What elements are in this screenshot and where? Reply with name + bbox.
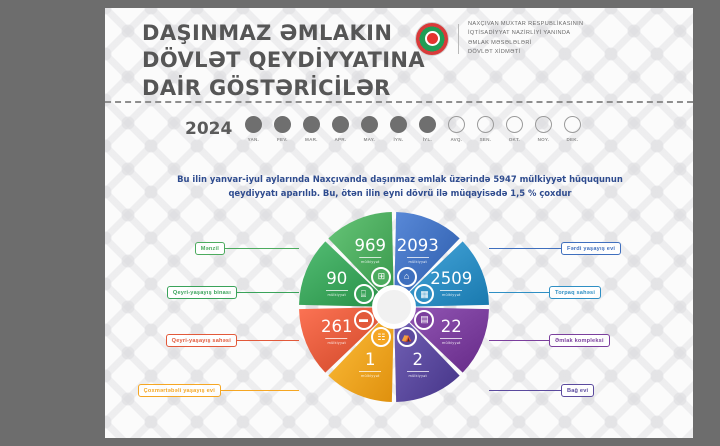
- callout-label: Çoxmərtəbəli yaşayış evi: [138, 384, 221, 397]
- segment-value-qeyri-yasayis-binasi: 90mülkiyyət: [326, 269, 348, 297]
- month-marker-mar: MAR.: [300, 116, 322, 142]
- segment-value-qeyri-yasayis-sahesi: 261mülkiyyət: [321, 317, 353, 345]
- month-label: MAR.: [305, 137, 318, 142]
- value-text: 22: [441, 317, 462, 336]
- month-dot-icon: [477, 116, 494, 133]
- callout-leader-line: [237, 340, 299, 341]
- month-list: YAN.FEV.MAR.APR.MAY.İYN.İYL.AVQ.SEN.OKT.…: [242, 116, 583, 142]
- donut-center-hub: [372, 285, 416, 329]
- month-label: SEN.: [480, 137, 492, 142]
- flat-icon: ⊞: [371, 267, 391, 287]
- month-dot-icon: [303, 116, 320, 133]
- month-marker-okt: OKT.: [503, 116, 525, 142]
- callout-qeyri-yasayis-sahesi: Qeyri-yaşayış sahəsi: [166, 334, 299, 347]
- segment-value-coxmertebeli-ev: 1mülkiyyət: [359, 350, 381, 378]
- month-marker-noy: NOY.: [532, 116, 554, 142]
- value-text: 1: [365, 350, 376, 369]
- summary-text: Bu ilin yanvar-iyul aylarında Naxçıvanda…: [153, 173, 647, 200]
- value-unit-label: mülkiyyət: [440, 338, 462, 345]
- callout-label: Qeyri-yaşayış sahəsi: [166, 334, 237, 347]
- callout-label: Mənzil: [195, 242, 225, 255]
- month-dot-icon: [564, 116, 581, 133]
- month-label: İYL.: [423, 137, 432, 142]
- value-unit-label: mülkiyyət: [359, 257, 381, 264]
- value-unit-label: mülkiyyət: [326, 338, 348, 345]
- value-unit-label: mülkiyyət: [440, 290, 462, 297]
- month-marker-may: MAY.: [358, 116, 380, 142]
- cottage-icon: ⛺: [397, 327, 417, 347]
- value-text: 969: [355, 236, 387, 255]
- segment-value-emlak-kompleksi: 22mülkiyyət: [440, 317, 462, 345]
- segment-value-menzil: 969mülkiyyət: [355, 236, 387, 264]
- callout-menzil: Mənzil: [195, 242, 299, 255]
- page-title: DAŞINMAZ ƏMLAKIN DÖVLƏT QEYDİYYATINA DAİ…: [142, 20, 432, 102]
- year-timeline: 2024 YAN.FEV.MAR.APR.MAY.İYN.İYL.AVQ.SEN…: [185, 116, 583, 142]
- month-dot-icon: [535, 116, 552, 133]
- month-dot-icon: [274, 116, 291, 133]
- month-dot-icon: [245, 116, 262, 133]
- callout-emlak-kompleksi: Əmlak kompleksi: [489, 334, 610, 347]
- state-emblem-icon: [415, 22, 449, 56]
- segment-value-fardi-yasayis-evi: 2093mülkiyyət: [397, 236, 439, 264]
- month-dot-icon: [419, 116, 436, 133]
- callout-fardi-yasayis-evi: Fərdi yaşayış evi: [489, 242, 621, 255]
- month-label: MAY.: [364, 137, 375, 142]
- month-dot-icon: [390, 116, 407, 133]
- month-dot-icon: [448, 116, 465, 133]
- month-dot-icon: [332, 116, 349, 133]
- callout-leader-line: [489, 340, 549, 341]
- month-label: OKT.: [509, 137, 520, 142]
- value-text: 90: [326, 269, 347, 288]
- organization-block: NAXÇIVAN MUXTAR RESPUBLİKASININ İQTİSADİ…: [415, 20, 583, 58]
- donut-chart-area: ⌂▦▤⛺☷▬⌸⊞ 2093mülkiyyət2509mülkiyyət22mül…: [105, 204, 693, 414]
- month-marker-i̇yn: İYN.: [387, 116, 409, 142]
- callout-leader-line: [489, 248, 561, 249]
- infographic-poster: DAŞINMAZ ƏMLAKIN DÖVLƏT QEYDİYYATINA DAİ…: [0, 0, 720, 446]
- year-label: 2024: [185, 119, 232, 139]
- divider: [458, 24, 459, 54]
- callout-leader-line: [221, 390, 299, 391]
- donut-chart: ⌂▦▤⛺☷▬⌸⊞ 2093mülkiyyət2509mülkiyyət22mül…: [299, 212, 489, 402]
- month-dot-icon: [361, 116, 378, 133]
- month-dot-icon: [506, 116, 523, 133]
- callout-label: Bağ evi: [561, 384, 594, 397]
- month-label: NOY.: [538, 137, 550, 142]
- value-text: 2: [412, 350, 423, 369]
- month-marker-fev: FEV.: [271, 116, 293, 142]
- month-marker-avq: AVQ.: [445, 116, 467, 142]
- complex-icon: ▤: [414, 310, 434, 330]
- month-marker-i̇yl: İYL.: [416, 116, 438, 142]
- callout-bag-evi: Bağ evi: [489, 384, 594, 397]
- value-unit-label: mülkiyyət: [407, 371, 429, 378]
- month-marker-sen: SEN.: [474, 116, 496, 142]
- callout-label: Əmlak kompleksi: [549, 334, 610, 347]
- month-label: AVQ.: [450, 137, 462, 142]
- month-marker-apr: APR.: [329, 116, 351, 142]
- callout-label: Qeyri-yaşayış binası: [167, 286, 237, 299]
- month-label: FEV.: [277, 137, 288, 142]
- value-text: 2093: [397, 236, 439, 255]
- callout-label: Torpaq sahəsi: [549, 286, 601, 299]
- office-icon: ⌸: [354, 284, 374, 304]
- value-unit-label: mülkiyyət: [326, 290, 348, 297]
- house-icon: ⌂: [397, 267, 417, 287]
- poster-canvas: DAŞINMAZ ƏMLAKIN DÖVLƏT QEYDİYYATINA DAİ…: [105, 8, 693, 438]
- callout-coxmertebeli-ev: Çoxmərtəbəli yaşayış evi: [138, 384, 299, 397]
- header-divider: [105, 101, 693, 103]
- callout-torpaq-sahesi: Torpaq sahəsi: [489, 286, 601, 299]
- month-label: İYN.: [393, 137, 403, 142]
- organization-name: NAXÇIVAN MUXTAR RESPUBLİKASININ İQTİSADİ…: [468, 20, 583, 58]
- callout-leader-line: [489, 390, 561, 391]
- callout-leader-line: [225, 248, 299, 249]
- callout-leader-line: [237, 292, 299, 293]
- value-text: 261: [321, 317, 353, 336]
- month-label: APR.: [334, 137, 346, 142]
- callout-leader-line: [489, 292, 549, 293]
- value-unit-label: mülkiyyət: [359, 371, 381, 378]
- header: DAŞINMAZ ƏMLAKIN DÖVLƏT QEYDİYYATINA DAİ…: [105, 8, 693, 101]
- segment-value-bag-evi: 2mülkiyyət: [407, 350, 429, 378]
- value-unit-label: mülkiyyət: [407, 257, 429, 264]
- segment-value-torpaq-sahesi: 2509mülkiyyət: [430, 269, 472, 297]
- month-label: YAN.: [248, 137, 259, 142]
- callout-qeyri-yasayis-binasi: Qeyri-yaşayış binası: [167, 286, 299, 299]
- callout-label: Fərdi yaşayış evi: [561, 242, 621, 255]
- month-marker-dek: DEK.: [561, 116, 583, 142]
- month-label: DEK.: [566, 137, 578, 142]
- area-icon: ▬: [354, 310, 374, 330]
- month-marker-yan: YAN.: [242, 116, 264, 142]
- value-text: 2509: [430, 269, 472, 288]
